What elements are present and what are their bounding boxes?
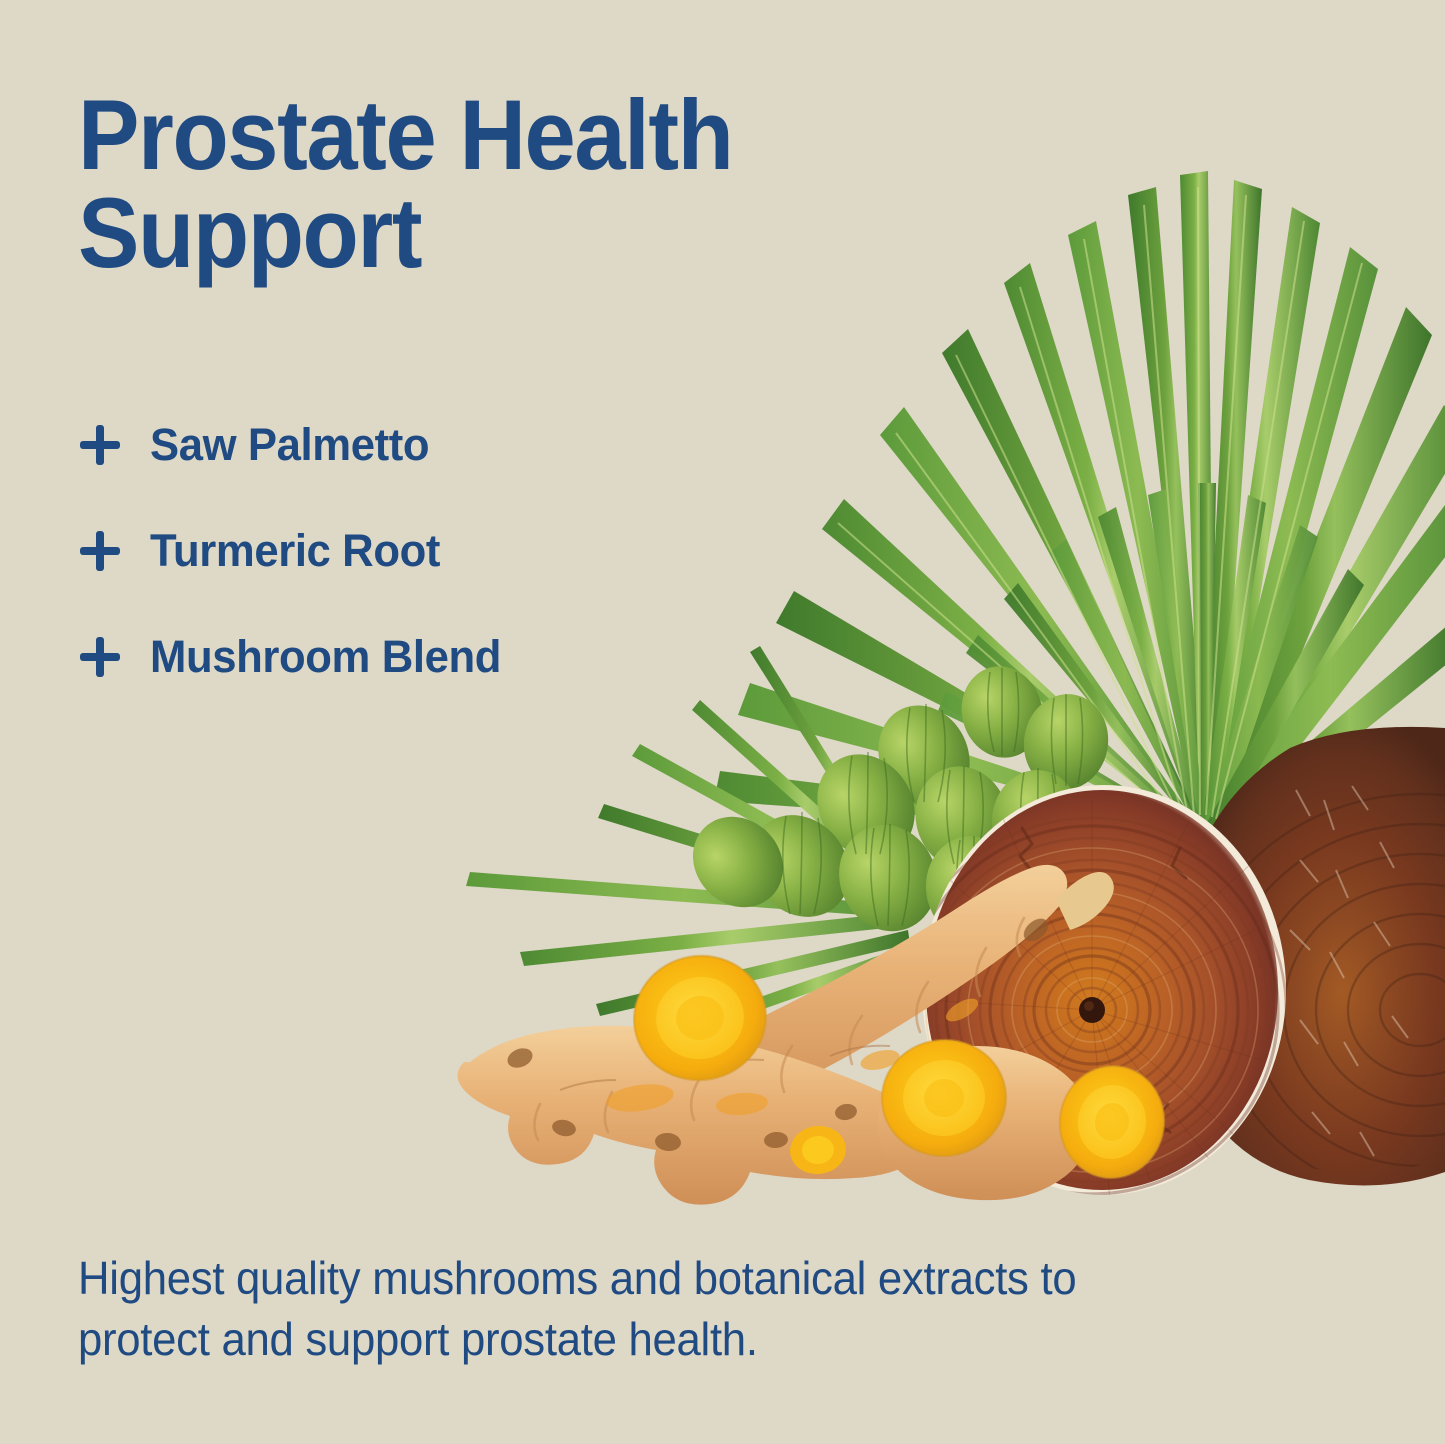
- page-title: Prostate Health Support: [78, 86, 978, 282]
- text-layer: Prostate Health Support Saw Palmetto Tur…: [0, 0, 1445, 1444]
- feature-item-saw-palmetto: Saw Palmetto: [78, 392, 778, 498]
- product-feature-card: Prostate Health Support Saw Palmetto Tur…: [0, 0, 1445, 1444]
- feature-label: Mushroom Blend: [150, 631, 501, 683]
- caption-text: Highest quality mushrooms and botanical …: [78, 1248, 1114, 1369]
- plus-icon: [78, 423, 122, 467]
- feature-item-mushroom-blend: Mushroom Blend: [78, 604, 778, 710]
- plus-icon: [78, 635, 122, 679]
- feature-label: Turmeric Root: [150, 525, 440, 577]
- plus-icon: [78, 529, 122, 573]
- title-line-1: Prostate Health: [78, 86, 915, 184]
- title-line-2: Support: [78, 184, 915, 282]
- feature-label: Saw Palmetto: [150, 419, 429, 471]
- feature-list: Saw Palmetto Turmeric Root Mushroom Blen…: [78, 392, 778, 710]
- feature-item-turmeric-root: Turmeric Root: [78, 498, 778, 604]
